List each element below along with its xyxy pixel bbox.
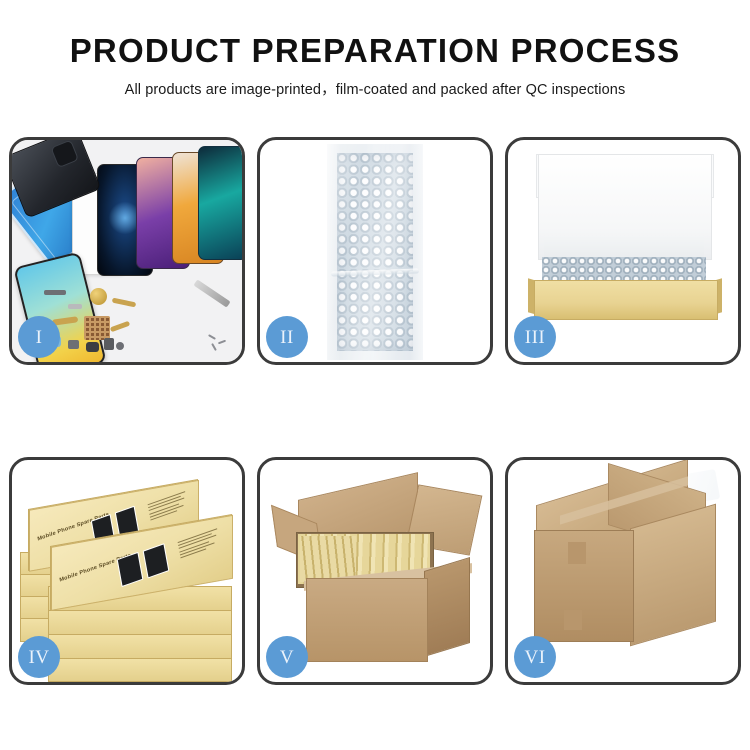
plastic-sheen [327, 144, 423, 360]
step-badge-4: IV [18, 636, 60, 678]
header: PRODUCT PREPARATION PROCESS All products… [0, 0, 750, 99]
screws-icon [208, 336, 230, 350]
step-badge-6: VI [514, 636, 556, 678]
page-subtitle: All products are image-printed，film-coat… [0, 78, 750, 99]
step-numeral: I [36, 328, 43, 347]
stacked-box [48, 634, 232, 660]
process-step-5: V [257, 457, 493, 685]
small-part-icon [86, 342, 99, 352]
speaker-part-icon [90, 288, 107, 305]
small-part-icon [104, 338, 114, 350]
stacked-box [48, 658, 232, 682]
step-badge-1: I [18, 316, 60, 358]
carton-tab [568, 542, 586, 564]
process-step-1: I [9, 137, 245, 365]
chip-board-icon [84, 316, 110, 340]
product-preparation-infographic: PRODUCT PREPARATION PROCESS All products… [0, 0, 750, 750]
carton-tab [564, 610, 582, 630]
carton-side-face [424, 557, 470, 657]
step-badge-5: V [266, 636, 308, 678]
small-part-icon [68, 340, 79, 349]
process-step-6: VI [505, 457, 741, 685]
phone-display-teal-icon [198, 146, 242, 260]
step-numeral: II [280, 328, 294, 347]
small-part-icon [44, 290, 66, 295]
page-title: PRODUCT PREPARATION PROCESS [0, 34, 750, 69]
process-step-grid: I II [9, 137, 741, 685]
small-part-icon [68, 304, 82, 309]
step-badge-2: II [266, 316, 308, 358]
bubble-wrap-sleeve-icon [327, 144, 423, 360]
step-badge-3: III [514, 316, 556, 358]
step-numeral: V [280, 648, 294, 667]
process-step-4: Mobile Phone Spare Parts Mobile Phone Sp… [9, 457, 245, 685]
kraft-box-front-icon [534, 280, 718, 320]
carton-front-face [306, 578, 428, 662]
process-step-2: II [257, 137, 493, 365]
step-numeral: III [525, 328, 545, 347]
small-part-icon [116, 342, 124, 350]
carton-side-face [630, 504, 716, 647]
step-numeral: IV [28, 648, 49, 667]
step-numeral: VI [524, 648, 545, 667]
packed-yellow-boxes-icon [300, 536, 356, 582]
process-step-3: III [505, 137, 741, 365]
stacked-box [48, 610, 232, 636]
